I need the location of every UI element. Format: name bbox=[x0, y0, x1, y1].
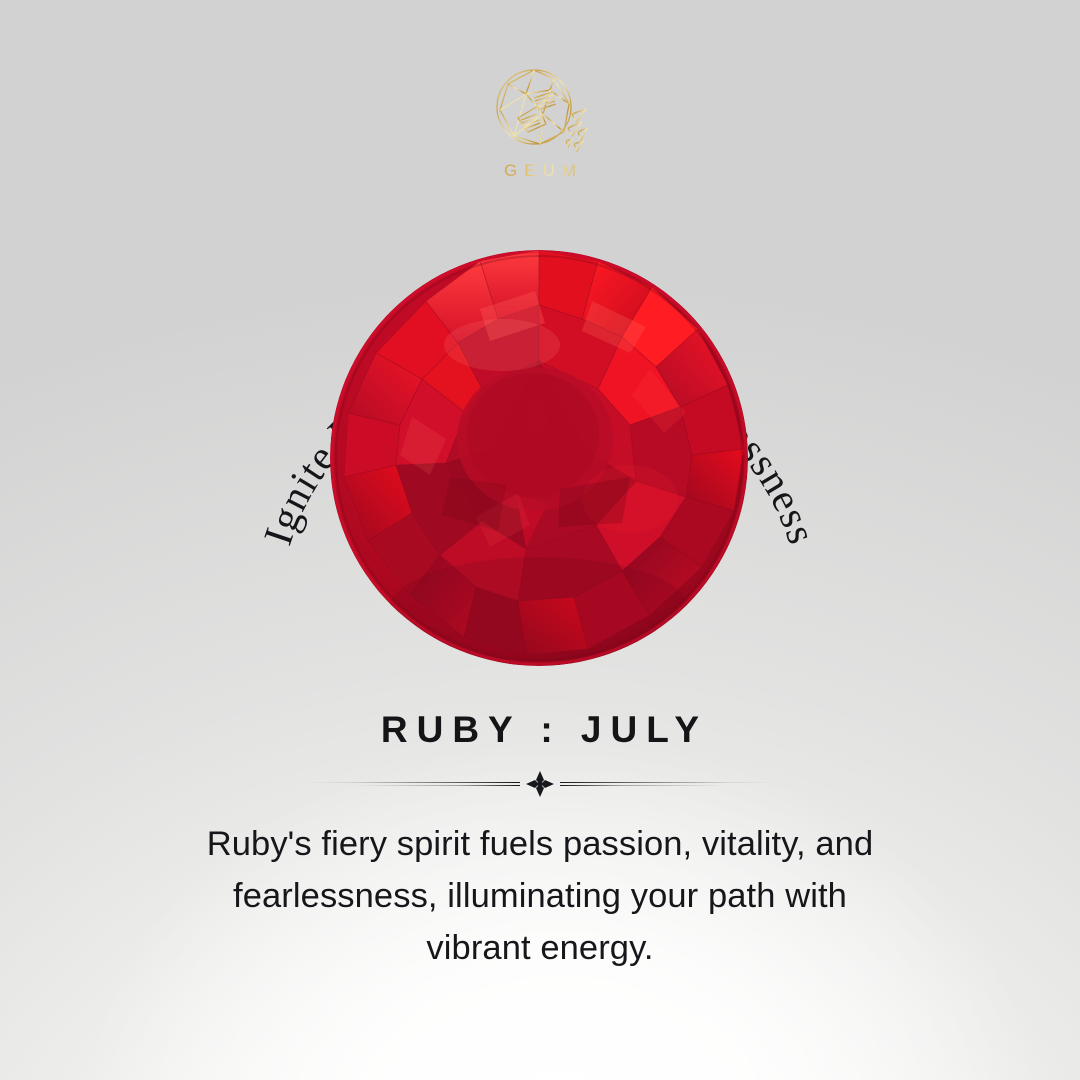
gemstone-title: RUBY : JULY bbox=[0, 709, 1080, 751]
faceted-gem-logo-icon bbox=[488, 62, 592, 158]
divider-rule-right bbox=[560, 778, 775, 790]
brand-logo: GEUM bbox=[440, 62, 640, 181]
gemstone-info-card: GEUM Ignite Passion . Vitality . Fearles… bbox=[0, 0, 1080, 1080]
round-brilliant-ruby-icon bbox=[330, 249, 748, 667]
ruby-gemstone-image bbox=[330, 249, 748, 667]
diamond-fleuron-ornament-icon bbox=[523, 769, 557, 799]
divider-rule-left bbox=[305, 778, 520, 790]
brand-name: GEUM bbox=[440, 161, 640, 181]
gemstone-description: Ruby's fiery spirit fuels passion, vital… bbox=[190, 818, 890, 974]
ornamental-divider bbox=[305, 768, 775, 800]
